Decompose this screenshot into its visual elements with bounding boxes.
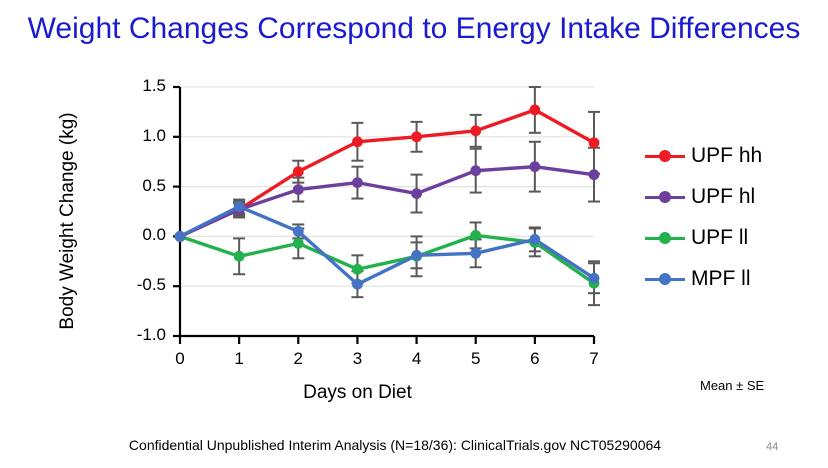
data-point-upf-hl <box>470 165 481 176</box>
legend-marker-icon <box>645 189 685 205</box>
x-tick-label: 6 <box>520 349 550 369</box>
slide-canvas: Weight Changes Correspond to Energy Inta… <box>0 0 828 468</box>
data-point-mpf-ll <box>175 231 186 242</box>
mean-se-note: Mean ± SE <box>700 378 764 393</box>
y-tick-label: 0.5 <box>110 176 166 196</box>
x-tick-label: 3 <box>342 349 372 369</box>
data-point-upf-hl <box>411 188 422 199</box>
x-tick-label: 7 <box>579 349 609 369</box>
legend-marker-icon <box>645 271 685 287</box>
x-tick-label: 0 <box>165 349 195 369</box>
data-point-upf-ll <box>293 238 304 249</box>
x-axis-label: Days on Diet <box>120 382 595 404</box>
data-point-upf-hh <box>470 125 481 136</box>
legend-item-upf-hl[interactable]: UPF hl <box>645 176 825 217</box>
page-number: 44 <box>766 441 778 453</box>
legend-label: UPF hl <box>691 185 755 209</box>
data-point-upf-hl <box>529 161 540 172</box>
data-point-upf-ll <box>352 264 363 275</box>
chart-container: Body Weight Change (kg) Days on Diet -1.… <box>0 60 828 420</box>
x-tick-label: 1 <box>224 349 254 369</box>
data-point-mpf-ll <box>470 248 481 259</box>
data-point-upf-hl <box>589 169 600 180</box>
legend-item-upf-ll[interactable]: UPF ll <box>645 217 825 258</box>
legend-item-mpf-ll[interactable]: MPF ll <box>645 258 825 299</box>
data-point-upf-hh <box>411 131 422 142</box>
data-point-upf-ll <box>470 230 481 241</box>
legend-dot-icon <box>659 273 671 285</box>
data-point-mpf-ll <box>589 273 600 284</box>
legend-label: UPF hh <box>691 144 762 168</box>
legend-label: MPF ll <box>691 267 751 291</box>
legend-item-upf-hh[interactable]: UPF hh <box>645 135 825 176</box>
data-point-upf-hl <box>352 177 363 188</box>
data-point-upf-hl <box>293 184 304 195</box>
data-point-mpf-ll <box>293 226 304 237</box>
y-tick-label: -0.5 <box>110 275 166 295</box>
y-tick-label: 1.0 <box>110 126 166 146</box>
y-tick-label: -1.0 <box>110 325 166 345</box>
y-tick-label: 0.0 <box>110 225 166 245</box>
chart-legend: UPF hhUPF hlUPF llMPF ll <box>645 135 825 299</box>
y-axis-label: Body Weight Change (kg) <box>57 91 79 351</box>
footer-disclaimer: Confidential Unpublished Interim Analysi… <box>0 437 790 453</box>
legend-label: UPF ll <box>691 226 748 250</box>
data-point-upf-hh <box>352 136 363 147</box>
data-point-mpf-ll <box>234 201 245 212</box>
x-tick-label: 2 <box>283 349 313 369</box>
legend-marker-icon <box>645 230 685 246</box>
data-point-upf-hh <box>529 105 540 116</box>
x-tick-label: 4 <box>402 349 432 369</box>
legend-marker-icon <box>645 148 685 164</box>
data-point-mpf-ll <box>529 234 540 245</box>
x-tick-label: 5 <box>461 349 491 369</box>
data-point-mpf-ll <box>411 250 422 261</box>
data-point-upf-hh <box>589 137 600 148</box>
page-title: Weight Changes Correspond to Energy Inta… <box>0 12 828 46</box>
legend-dot-icon <box>659 150 671 162</box>
legend-dot-icon <box>659 191 671 203</box>
y-tick-label: 1.5 <box>110 76 166 96</box>
data-point-upf-ll <box>234 251 245 262</box>
legend-dot-icon <box>659 232 671 244</box>
data-point-upf-hh <box>293 166 304 177</box>
data-point-mpf-ll <box>352 279 363 290</box>
